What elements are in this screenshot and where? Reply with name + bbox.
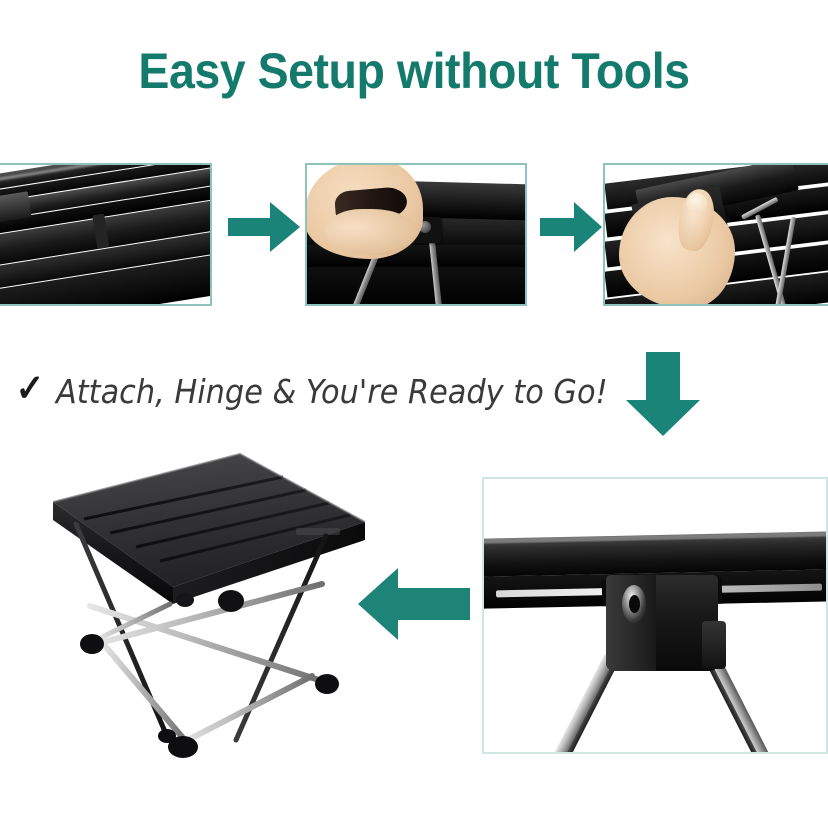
hub-joint [218, 590, 244, 612]
foot [80, 634, 104, 654]
step-4-panel [482, 477, 828, 754]
step-2-panel [305, 163, 527, 306]
step-1-panel [0, 163, 212, 306]
tabletop-face [53, 454, 365, 587]
hub-joint-closeup-photo [484, 479, 826, 752]
brand-logo [296, 528, 340, 535]
frame-leg [96, 584, 322, 644]
foot [158, 729, 176, 743]
hub-joint-secondary [176, 593, 194, 607]
hand [619, 197, 735, 304]
checkmark-icon: ✓ [16, 370, 45, 408]
step-3-panel [603, 163, 828, 306]
caption-text: Attach, Hinge & You're Ready to Go! [56, 372, 608, 411]
assembled-folding-table [40, 444, 380, 774]
folded-tabletop-photo [0, 165, 210, 304]
frame-leg [550, 654, 616, 752]
frame-leg [100, 640, 188, 744]
page-title: Easy Setup without Tools [29, 42, 799, 100]
attach-frame-hub-photo [307, 165, 525, 304]
foot [315, 674, 339, 694]
frame-leg [180, 676, 312, 744]
hub-pin-hole [629, 595, 640, 613]
arrow-step2-to-step3-icon [540, 198, 602, 256]
caption: ✓ Attach, Hinge & You're Ready to Go! [14, 368, 656, 414]
infographic-canvas: Easy Setup without Tools [0, 0, 828, 820]
fingers [325, 209, 417, 255]
hinge-last-slat-photo [605, 165, 828, 304]
slat [307, 266, 525, 304]
tabletop-slab [0, 165, 210, 304]
hub-joint-ear [702, 621, 726, 669]
table-feet [80, 634, 339, 758]
arrow-step1-to-step2-icon [228, 198, 300, 256]
